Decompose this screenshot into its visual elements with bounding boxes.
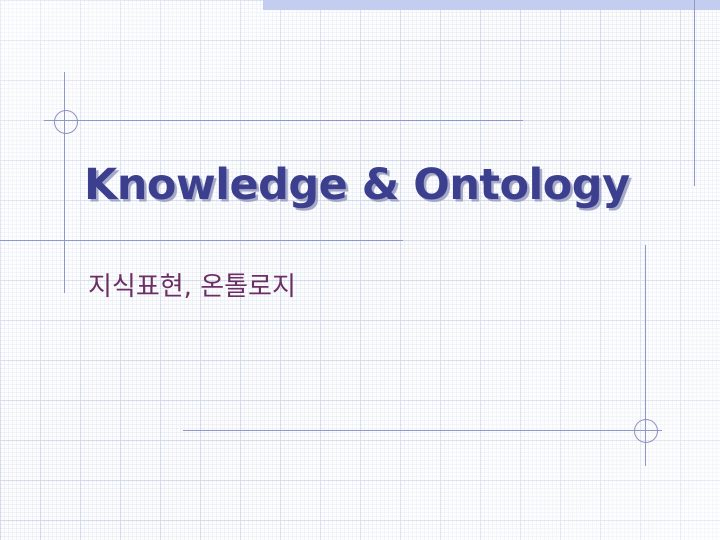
lower-horizontal-rule	[183, 430, 662, 431]
slide-title: Knowledge & Ontology	[84, 160, 630, 210]
lower-right-ring	[634, 419, 658, 443]
presentation-slide: Knowledge & Ontology 지식표현, 온톨로지	[0, 0, 720, 540]
top-accent-band	[263, 0, 720, 10]
slide-subtitle: 지식표현, 온톨로지	[88, 266, 296, 303]
upper-horizontal-rule	[44, 120, 523, 121]
upper-left-ring	[54, 110, 78, 134]
right-top-vertical-rule	[694, 0, 695, 186]
mid-horizontal-rule	[0, 240, 403, 241]
upper-left-vertical-rule	[64, 72, 65, 293]
